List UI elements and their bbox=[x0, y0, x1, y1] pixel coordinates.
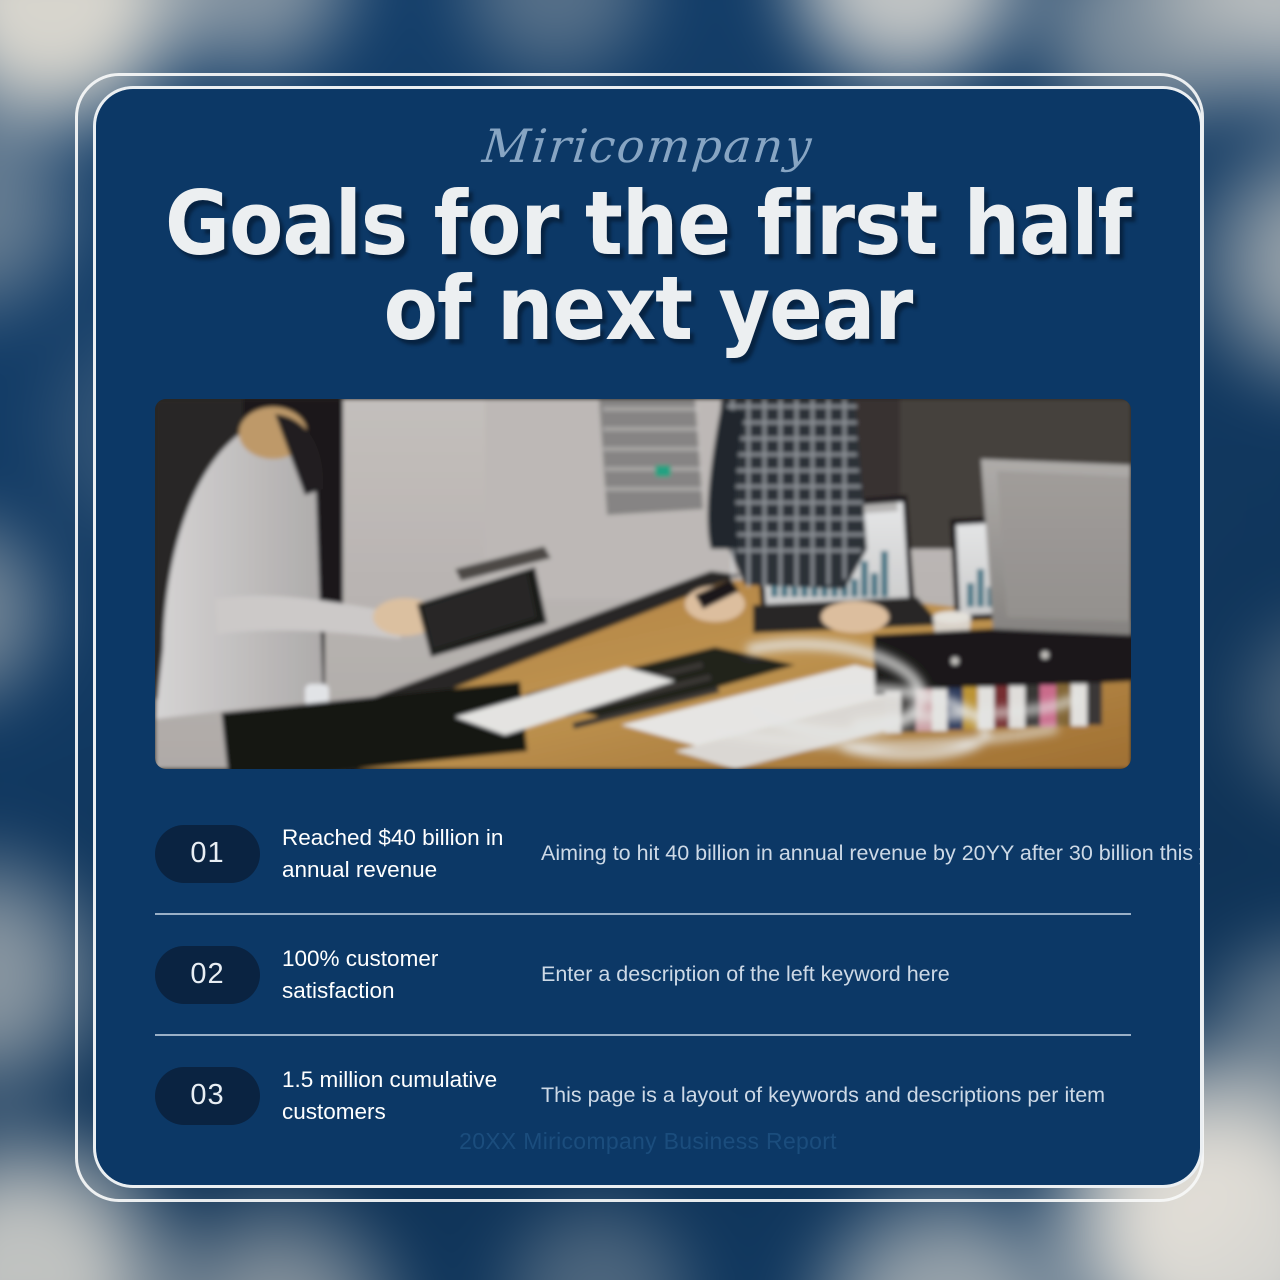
goal-description: Enter a description of the left keyword … bbox=[507, 962, 1131, 987]
goal-number-badge: 02 bbox=[155, 946, 260, 1004]
goals-list: 01 Reached $40 billion in annual revenue… bbox=[155, 794, 1131, 1155]
goal-keyword: 1.5 million cumulative customers bbox=[282, 1064, 507, 1128]
page-title: Goals for the first half of next year bbox=[151, 181, 1145, 352]
slide-panel: Miricompany Goals for the first half of … bbox=[93, 86, 1203, 1188]
slide-canvas: Miricompany Goals for the first half of … bbox=[0, 0, 1280, 1280]
hero-photo bbox=[155, 399, 1131, 769]
brand-script-logo: Miricompany bbox=[93, 119, 1203, 173]
goal-description: This page is a layout of keywords and de… bbox=[507, 1083, 1131, 1108]
corner-notch-bottom-left bbox=[95, 1156, 125, 1186]
office-meeting-illustration bbox=[155, 399, 1131, 769]
goal-keyword: 100% customer satisfaction bbox=[282, 943, 507, 1007]
goal-row[interactable]: 01 Reached $40 billion in annual revenue… bbox=[155, 794, 1131, 913]
slide-footer: 20XX Miricompany Business Report bbox=[96, 1128, 1200, 1155]
goal-keyword: Reached $40 billion in annual revenue bbox=[282, 822, 507, 886]
goal-number-badge: 03 bbox=[155, 1067, 260, 1125]
goal-row[interactable]: 02 100% customer satisfaction Enter a de… bbox=[155, 915, 1131, 1034]
goal-number-badge: 01 bbox=[155, 825, 260, 883]
corner-notch-top-right bbox=[1171, 88, 1201, 118]
goal-description: Aiming to hit 40 billion in annual reven… bbox=[507, 841, 1203, 866]
